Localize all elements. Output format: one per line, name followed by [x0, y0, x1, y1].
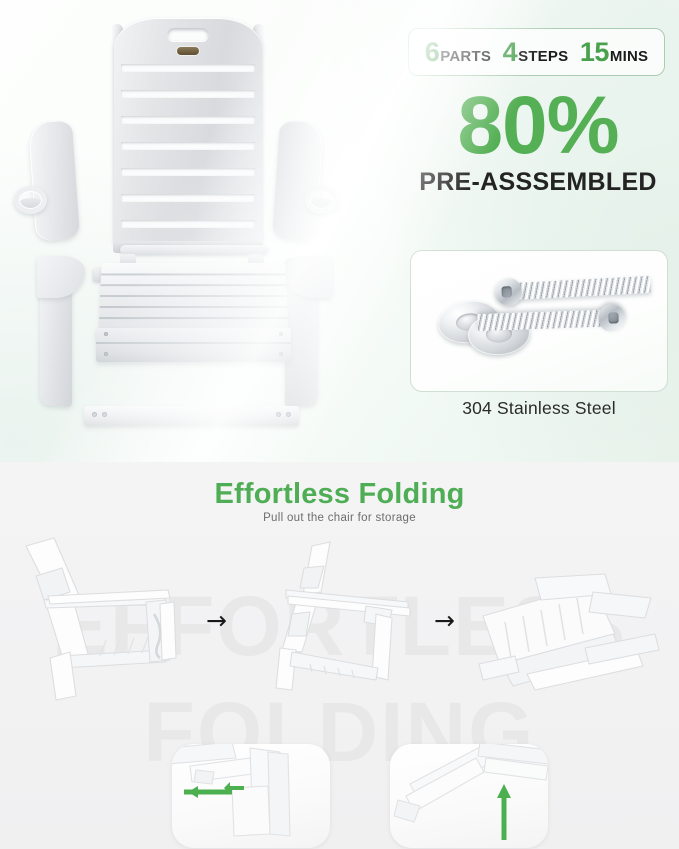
chair-left-leg-part: [40, 258, 84, 408]
badge-steps-label: STEPS: [518, 48, 568, 65]
leg-head: [37, 256, 85, 298]
bolt-head: [494, 278, 522, 306]
bolt-socket: [501, 286, 512, 298]
detail-b-illustration: [390, 744, 548, 848]
backrest-slat-gap: [121, 142, 255, 150]
chair-bottom-brace-part: [84, 406, 299, 426]
pre-assembled-percent: 80%: [408, 86, 668, 166]
badge-steps-number: 4: [503, 37, 518, 68]
detail-panel-pull-out: [172, 744, 330, 848]
badge-mins-number: 15: [580, 37, 609, 68]
spec-badge-pill: 6 PARTS 4 STEPS 15 MINS: [408, 28, 665, 76]
folding-stage-3-folded: [465, 572, 665, 712]
badge-parts-label: PARTS: [440, 48, 491, 65]
bolt-shaft: [477, 310, 603, 331]
badge-parts-number: 6: [425, 37, 440, 68]
backrest-slat-gap: [121, 168, 255, 176]
bolt-head: [598, 304, 626, 332]
badge-mins-label: MINS: [610, 48, 648, 65]
brace-hole: [92, 412, 97, 417]
arrow-right-icon: →: [434, 608, 455, 633]
seat-screw: [104, 332, 108, 336]
badge-mins: 15 MINS: [580, 37, 648, 68]
seat-slat: [100, 306, 288, 308]
folding-title: Effortless Folding: [0, 478, 679, 511]
armrest-board: [28, 121, 80, 242]
bolt-socket: [608, 312, 618, 323]
exploded-chair-illustration: [0, 0, 400, 460]
chair-backrest-part: [114, 18, 262, 244]
seat-screw: [279, 352, 283, 356]
backrest-slat-gap: [121, 220, 255, 228]
brace-hole: [102, 412, 107, 417]
folding-stage-1-upright: [14, 528, 204, 708]
seat-screw: [104, 352, 108, 356]
hardware-caption: 304 Stainless Steel: [410, 398, 668, 419]
chair-left-armrest-part: [16, 122, 92, 242]
infographic-page: 6 PARTS 4 STEPS 15 MINS 80% PRE-ASSSEMBL…: [0, 0, 679, 849]
backrest-slat-gap: [121, 194, 255, 202]
backrest-slat-gap: [121, 116, 255, 124]
seat-slat: [100, 295, 287, 296]
detail-a-illustration: [172, 744, 330, 848]
chair-right-leg-part: [285, 258, 329, 408]
handle-cutout-icon: [168, 28, 209, 41]
brace-hole: [286, 412, 291, 417]
top-section: 6 PARTS 4 STEPS 15 MINS 80% PRE-ASSSEMBL…: [0, 0, 679, 462]
seat-slat: [101, 273, 286, 274]
folding-subtitle: Pull out the chair for storage: [0, 512, 679, 524]
seat-front-line: [96, 342, 291, 344]
brand-plaque: [177, 47, 199, 55]
detail-panel-lift-up: [390, 744, 548, 848]
pre-assembled-caption: PRE-ASSSEMBLED: [408, 168, 668, 197]
seat-screw: [279, 332, 283, 336]
armrest-board: [272, 121, 324, 242]
pre-assembled-block: 80% PRE-ASSSEMBLED: [408, 86, 668, 197]
hardware-showcase-box: [410, 250, 668, 392]
chair-right-armrest-part: [260, 122, 336, 242]
seat-slat: [99, 317, 288, 319]
seat-front-edge: [96, 328, 291, 362]
seat-slat: [101, 284, 287, 285]
backrest-slat-gap: [121, 90, 255, 98]
arrow-right-icon: →: [206, 608, 227, 633]
badge-parts: 6 PARTS: [425, 37, 491, 68]
backrest-frame: [114, 18, 262, 244]
cup-holder-icon: [14, 186, 47, 214]
cup-holder-icon: [305, 186, 338, 214]
brace-hole: [276, 412, 281, 417]
bolt-shaft: [517, 276, 651, 300]
chair-center-rail-part: [120, 245, 268, 255]
backrest-slat-gap: [121, 64, 255, 72]
folding-stage-2-collapsing: [258, 540, 428, 700]
chair-seat-part: [96, 262, 291, 377]
badge-steps: 4 STEPS: [503, 37, 569, 68]
